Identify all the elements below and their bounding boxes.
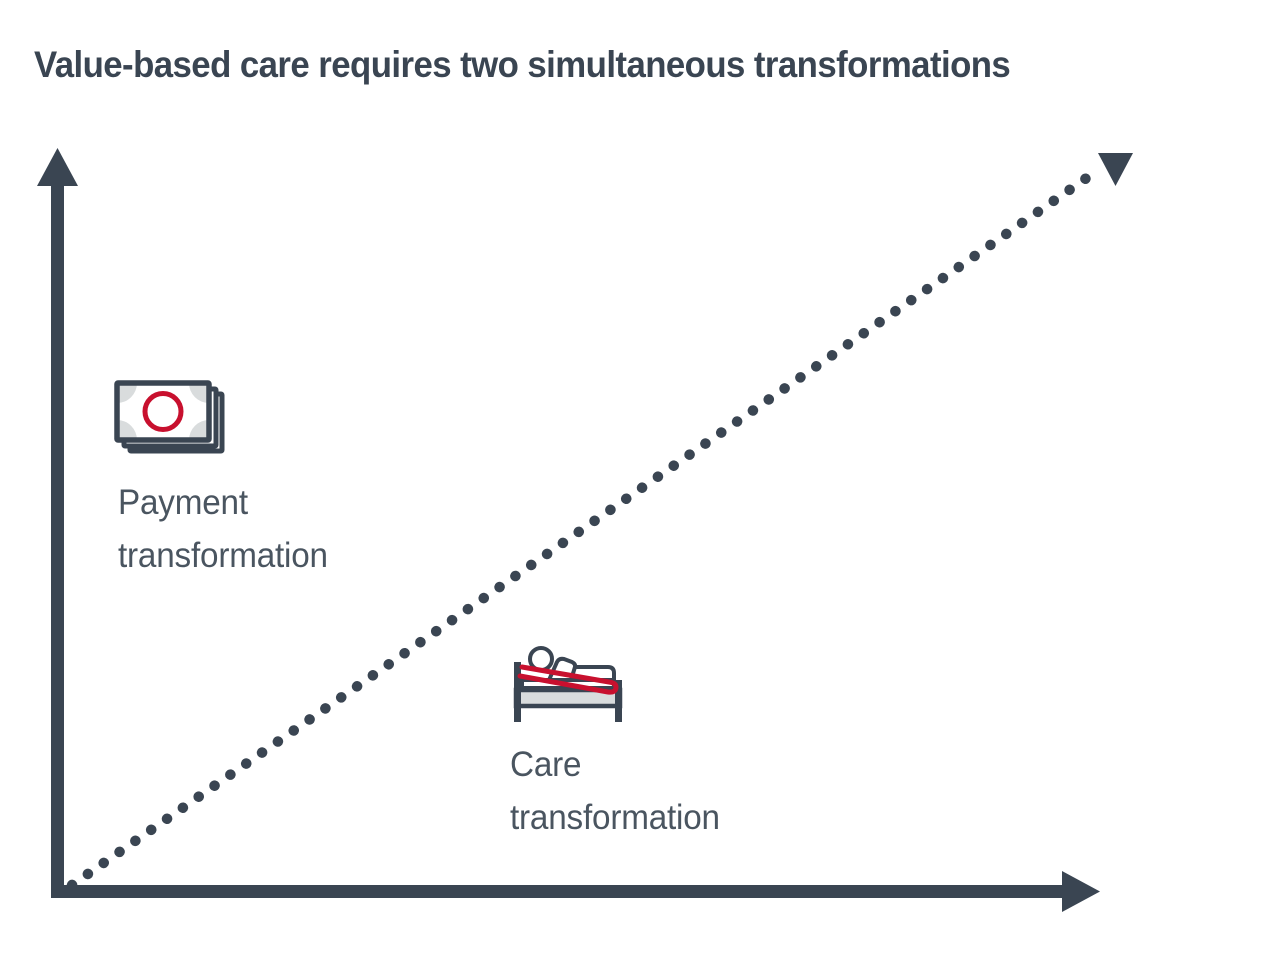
trend-arrowhead-icon bbox=[1098, 153, 1133, 186]
callout-payment-transformation: Payment transformation bbox=[112, 378, 339, 582]
y-axis-arrowhead-icon bbox=[37, 148, 78, 186]
x-axis-arrowhead-icon bbox=[1062, 871, 1100, 912]
callout-care-label: Care transformation bbox=[510, 738, 720, 844]
callout-payment-label: Payment transformation bbox=[118, 476, 328, 582]
hospital-bed-icon bbox=[508, 640, 632, 724]
banknotes-icon bbox=[112, 378, 230, 462]
x-axis-line bbox=[51, 885, 1072, 898]
y-axis-line bbox=[51, 175, 64, 898]
slide-canvas: Value-based care requires two simultaneo… bbox=[0, 0, 1280, 960]
callout-care-transformation: Care transformation bbox=[508, 640, 731, 844]
